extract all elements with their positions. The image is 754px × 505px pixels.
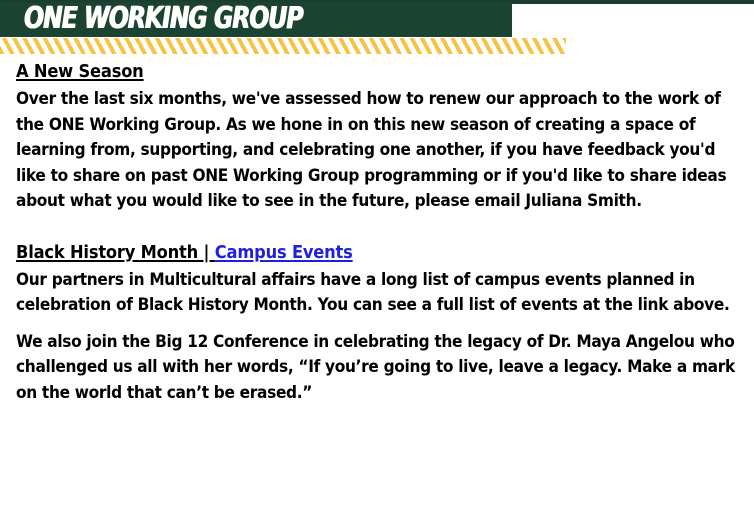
banner-title: ONE WORKING GROUP xyxy=(24,2,302,37)
section-heading: A New Season xyxy=(16,62,689,82)
section-heading-text: A New Season xyxy=(16,62,144,82)
section-heading-separator: | xyxy=(198,243,215,263)
section-a-new-season: A New Season Over the last six months, w… xyxy=(16,62,740,215)
section-heading: Black History Month | Campus Events xyxy=(16,243,689,263)
section-heading-text: Black History Month xyxy=(16,243,198,263)
paragraph-spacer xyxy=(16,319,740,330)
section-paragraph: Over the last six months, we've assessed… xyxy=(16,87,740,215)
newsletter-content: A New Season Over the last six months, w… xyxy=(16,62,740,406)
section-spacer xyxy=(16,215,740,243)
section-paragraph: We also join the Big 12 Conference in ce… xyxy=(16,330,740,407)
banner-diagonal-stripes xyxy=(0,38,566,54)
campus-events-link[interactable]: Campus Events xyxy=(215,243,353,263)
section-paragraph: Our partners in Multicultural affairs ha… xyxy=(16,268,740,319)
page-header-banner: ONE WORKING GROUP xyxy=(0,0,754,57)
section-black-history-month: Black History Month | Campus Events Our … xyxy=(16,243,740,407)
